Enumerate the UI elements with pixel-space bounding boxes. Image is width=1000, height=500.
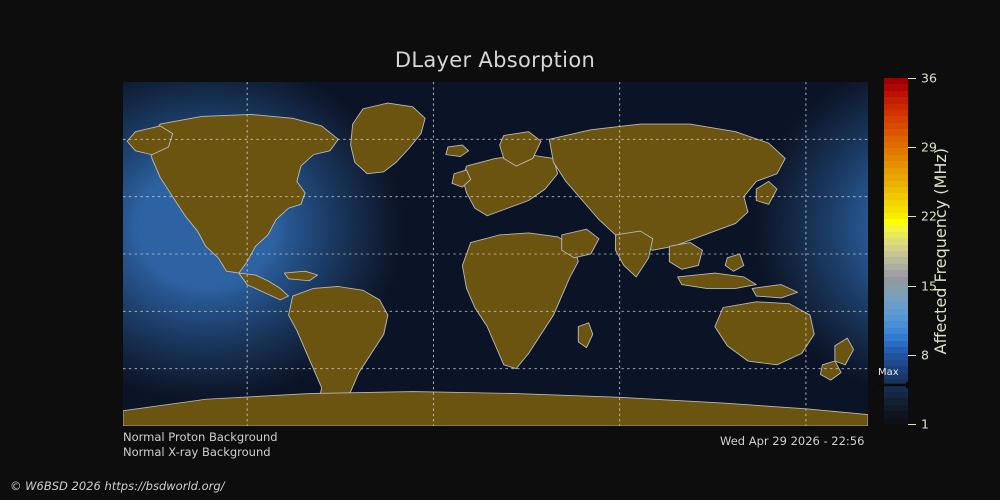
colorbar-segment: [884, 418, 908, 424]
world-map[interactable]: [123, 82, 868, 426]
map-svg: [123, 82, 868, 426]
colorbar-tick: [908, 424, 916, 425]
colorbar-axis-label-text: Affected Frequency (MHz): [931, 148, 950, 354]
timestamp: Wed Apr 29 2026 - 22:56: [720, 434, 864, 448]
colorbar-max-marker: Max: [876, 367, 916, 393]
colorbar-tick: [908, 147, 916, 148]
colorbar-axis-label: Affected Frequency (MHz): [928, 78, 952, 424]
colorbar-tick: [908, 355, 916, 356]
dlayer-absorption-screen: DLayer Absorption: [0, 0, 1000, 500]
max-arrow-icon: [878, 381, 914, 389]
page-title: DLayer Absorption: [0, 48, 990, 72]
colorbar-tick: [908, 216, 916, 217]
colorbar-tick: [908, 286, 916, 287]
max-marker-label: Max: [878, 367, 899, 378]
credit-line: © W6BSD 2026 https://bsdworld.org/: [10, 479, 225, 493]
proton-background-note: Normal Proton Background: [123, 430, 278, 444]
colorbar-tick: [908, 78, 916, 79]
xray-background-note: Normal X-ray Background: [123, 445, 271, 459]
